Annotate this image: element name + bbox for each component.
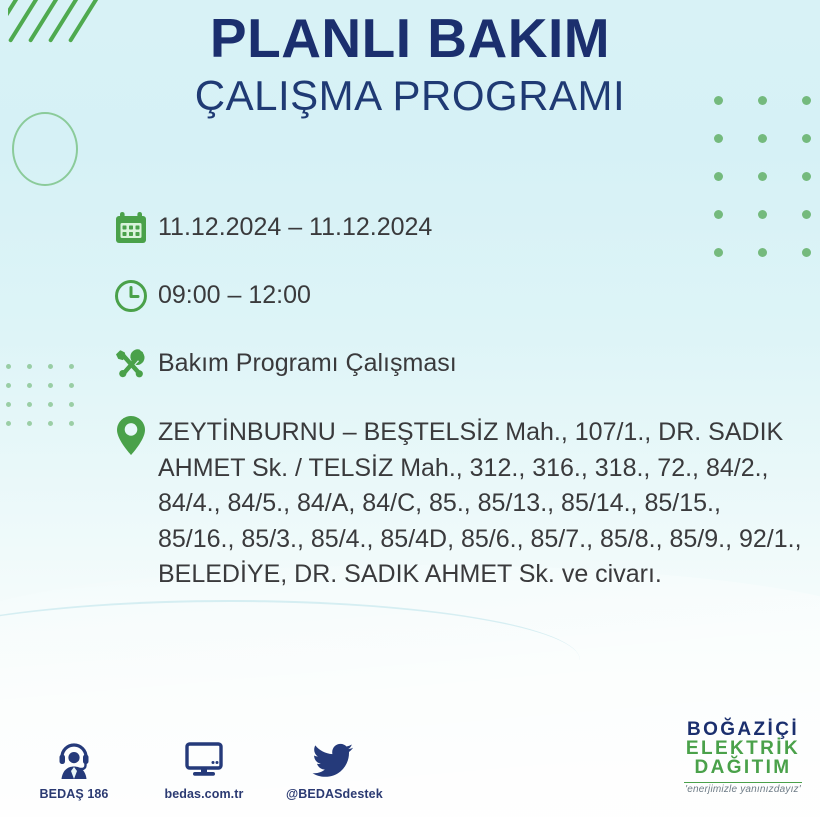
logo-line-dagitim: DAĞITIM — [684, 758, 802, 777]
contact-phone[interactable]: BEDAŞ 186 — [26, 735, 122, 801]
circle-outline-decoration — [12, 112, 78, 186]
page-title: PLANLI BAKIM — [0, 10, 820, 66]
page-subtitle: ÇALIŞMA PROGRAMI — [0, 72, 820, 120]
contact-phone-label: BEDAŞ 186 — [26, 787, 122, 801]
time-range-text: 09:00 – 12:00 — [158, 273, 311, 312]
background-wave-line — [0, 600, 580, 662]
info-row-address: ZEYTİNBURNU – BEŞTELSİZ Mah., 107/1., DR… — [104, 409, 804, 593]
clock-icon — [104, 273, 158, 319]
poster-header: PLANLI BAKIM ÇALIŞMA PROGRAMI — [0, 10, 820, 120]
maintenance-notice-poster: PLANLI BAKIM ÇALIŞMA PROGRAMI — [0, 0, 820, 817]
info-row-time: 09:00 – 12:00 — [104, 273, 804, 319]
contact-website-label: bedas.com.tr — [156, 787, 252, 801]
address-text: ZEYTİNBURNU – BEŞTELSİZ Mah., 107/1., DR… — [158, 409, 804, 593]
info-row-date: 11.12.2024 – 11.12.2024 — [104, 205, 804, 251]
contact-list: BEDAŞ 186 bedas.com.tr — [26, 735, 382, 801]
contact-website[interactable]: bedas.com.tr — [156, 735, 252, 801]
contact-twitter-label: @BEDASdestek — [286, 787, 382, 801]
twitter-bird-icon — [286, 735, 382, 781]
calendar-icon — [104, 205, 158, 251]
headset-support-icon — [26, 735, 122, 781]
contact-twitter[interactable]: @BEDASdestek — [286, 735, 382, 801]
tools-icon — [104, 341, 158, 387]
work-type-text: Bakım Programı Çalışması — [158, 341, 457, 380]
logo-divider — [684, 782, 802, 783]
logo-line-bogazici: BOĞAZİÇİ — [684, 720, 802, 739]
date-range-text: 11.12.2024 – 11.12.2024 — [158, 205, 432, 244]
dot-grid-decoration-left — [6, 364, 90, 440]
poster-footer: BEDAŞ 186 bedas.com.tr — [0, 709, 820, 805]
logo-tagline: 'enerjimizle yanınızdayız' — [684, 785, 802, 795]
monitor-website-icon — [156, 735, 252, 781]
location-pin-icon — [104, 409, 158, 459]
logo-line-elektrik: ELEKTRİK — [684, 739, 802, 758]
info-list: 11.12.2024 – 11.12.2024 09:00 – 12:00 — [104, 205, 804, 593]
info-row-work-type: Bakım Programı Çalışması — [104, 341, 804, 387]
bedas-logo: BOĞAZİÇİ ELEKTRİK DAĞITIM 'enerjimizle y… — [684, 720, 802, 795]
